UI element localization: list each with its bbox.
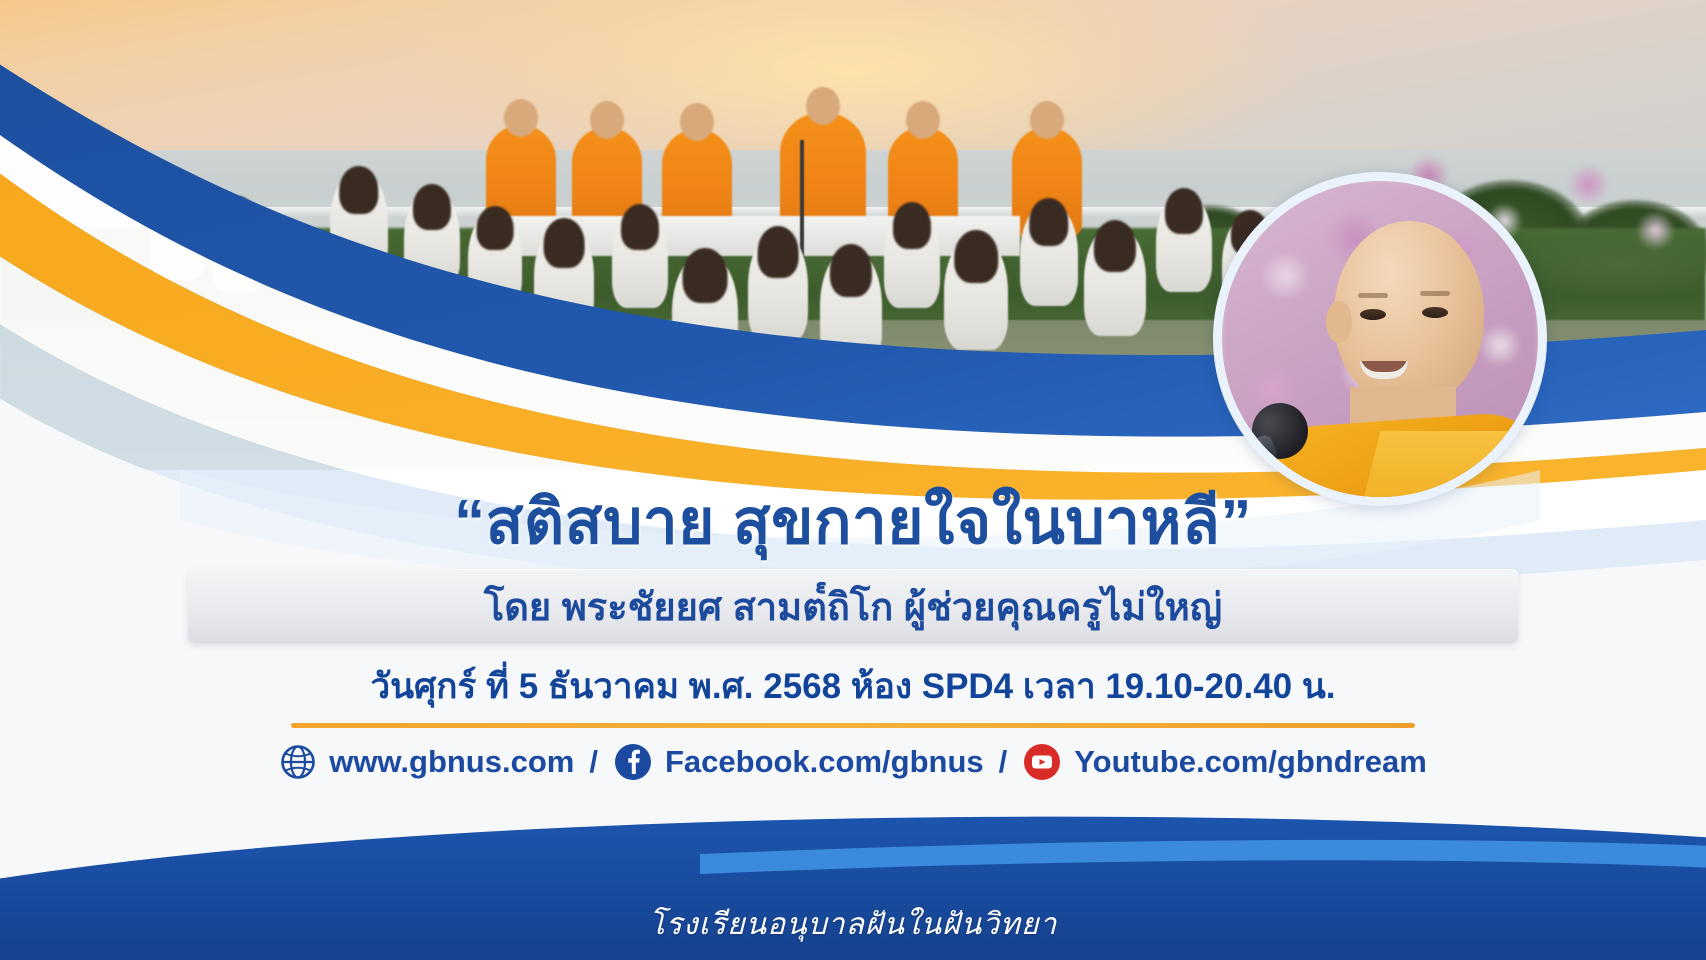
audience-member [1156,192,1212,292]
footer-script-text: โรงเรียนอนุบาลฝันในฝันวิทยา [0,901,1706,948]
portrait-eye-left [1360,309,1386,320]
audience-member [150,182,206,280]
audience-member [534,222,594,330]
portrait-ear [1326,301,1352,343]
link-separator: / [589,744,598,780]
event-datetime: วันศุกร์ ที่ 5 ธันวาคม พ.ศ. 2568 ห้อง SP… [0,659,1706,714]
audience-member [404,188,460,288]
globe-icon [279,743,317,781]
audience-member [944,234,1008,350]
youtube-icon [1022,742,1062,782]
audience-member [1020,202,1078,306]
audience-member [820,248,882,364]
poster-title: “สติสบาย สุขกายใจในบาหลี” [0,470,1706,557]
facebook-link-label[interactable]: Facebook.com/gbnus [665,744,984,780]
portrait-brow-right [1420,291,1450,296]
portrait-brow-left [1358,293,1388,298]
audience-member [330,170,388,274]
website-link-label[interactable]: www.gbnus.com [329,744,574,780]
poster-content: “สติสบาย สุขกายใจในบาหลี” โดย พระชัยยศ ส… [0,470,1706,870]
audience-member [748,230,808,342]
subtitle-bar: โดย พระชัยยศ สามต๎ถิโก ผู้ช่วยคุณครูไม่ใ… [188,569,1518,643]
bottom-bar: โรงเรียนอนุบาลฝันในฝันวิทยา [0,830,1706,960]
orange-divider [291,723,1415,728]
audience-member [212,200,264,292]
portrait-eye-right [1422,307,1448,318]
link-separator: / [999,744,1008,780]
speaker-portrait [1213,172,1547,506]
youtube-link-label[interactable]: Youtube.com/gbndream [1074,744,1427,780]
audience-member [672,252,738,372]
audience-member [1084,224,1146,336]
audience-member [468,210,522,306]
facebook-icon [613,742,653,782]
poster-canvas: “สติสบาย สุขกายใจในบาหลี” โดย พระชัยยศ ส… [0,0,1706,960]
portrait-head [1334,221,1484,405]
speaker-subtitle: โดย พระชัยยศ สามต๎ถิโก ผู้ช่วยคุณครูไม่ใ… [484,576,1222,637]
audience-member [884,206,940,308]
audience-member [612,208,668,308]
social-links-row: www.gbnus.com / Facebook.com/gbnus / You… [0,742,1706,782]
